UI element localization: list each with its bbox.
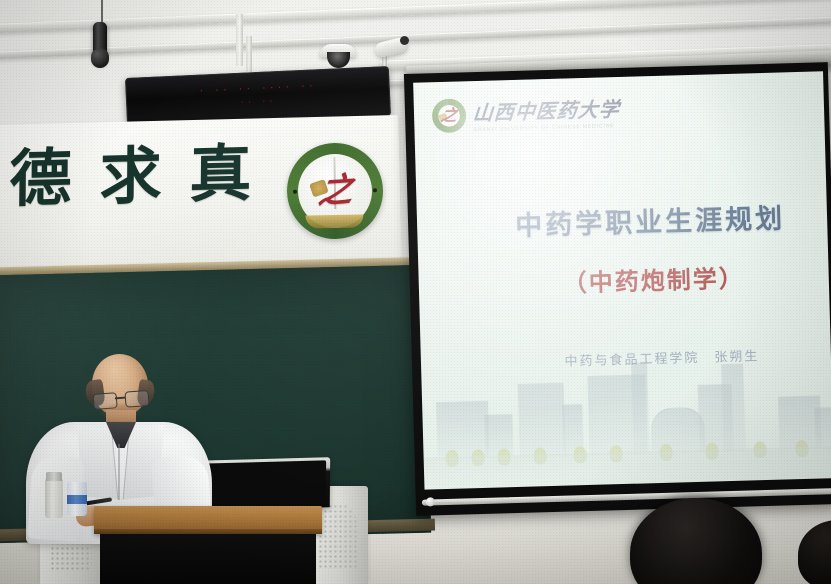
motto-char-2: 求 [99, 145, 162, 209]
slide-campus-illustration [421, 346, 831, 489]
slide-university-logo: 之 山西中医药大学 SHANXI UNIVERSITY OF CHINESE M… [432, 93, 621, 134]
microphone-capsule [91, 48, 109, 68]
lab-coat-placket [118, 444, 120, 500]
conduit-vertical [236, 14, 243, 66]
banner-motto: 德 求 真 [0, 142, 266, 211]
screen-weight-bar [422, 488, 831, 506]
cup-label-band [67, 495, 87, 504]
water-bottle-cap [46, 472, 62, 481]
emblem-calligraphic-mark: 之 [311, 169, 361, 212]
slide-logo-mark-glyph: 之 [429, 98, 469, 133]
motto-char-1: 德 [9, 147, 72, 211]
projector-screen-surface: 之 山西中医药大学 SHANXI UNIVERSITY OF CHINESE M… [413, 71, 831, 489]
glasses-bridge [115, 397, 125, 399]
campus-building [814, 407, 831, 449]
podium-body [100, 534, 316, 584]
slide-subtitle: （中药炮制学） [448, 255, 831, 301]
slide-logo-chinese: 山西中医药大学 [472, 93, 621, 126]
bullet-camera-lens [400, 36, 409, 45]
motto-char-3: 真 [189, 143, 252, 207]
campus-building [631, 362, 650, 453]
speaker-grille [318, 504, 358, 570]
campus-building [518, 383, 566, 457]
slide-logo-text: 山西中医药大学 SHANXI UNIVERSITY OF CHINESE MED… [473, 93, 621, 133]
projector-screen-frame: 之 山西中医药大学 SHANXI UNIVERSITY OF CHINESE M… [404, 62, 831, 516]
slide-logo-emblem-icon: 之 [432, 98, 467, 133]
emblem-dot-right [373, 188, 377, 192]
slide-title: 中药学职业生涯规划 [445, 194, 831, 245]
emblem-dot-left [293, 190, 297, 194]
lecture-hall-photo: · ·· ·· ···· ·· ·· ·· 德 求 真 之 [0, 0, 831, 584]
conduit-vertical-secondary [246, 36, 252, 72]
campus-building [650, 407, 705, 453]
emblem-leaf-band [305, 215, 363, 229]
water-bottle [45, 478, 63, 518]
campus-building [721, 364, 745, 452]
